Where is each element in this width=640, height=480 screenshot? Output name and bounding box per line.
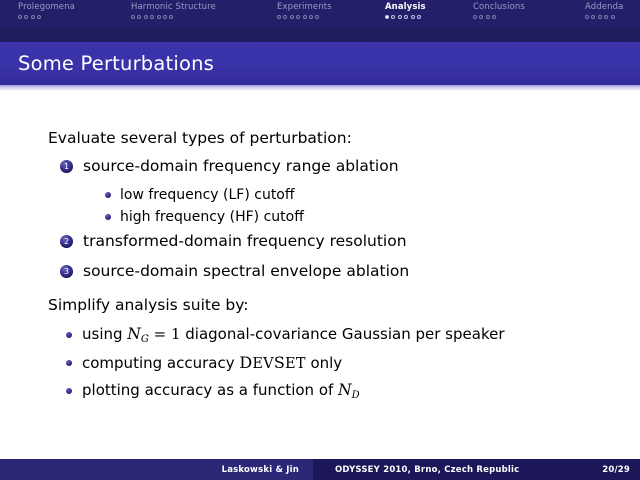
nav-dot[interactable] bbox=[144, 15, 148, 19]
bullet-item-2-label: computing accuracy DEVSET only bbox=[82, 353, 342, 374]
bullet-item-2: computing accuracy DEVSET only bbox=[66, 353, 342, 374]
bullet-1-post: diagonal-covariance Gaussian per speaker bbox=[181, 325, 505, 343]
nav-dot[interactable] bbox=[283, 15, 287, 19]
enumerated-item-3-label: source-domain spectral envelope ablation bbox=[83, 262, 409, 281]
nav-section-analysis[interactable]: Analysis bbox=[385, 2, 426, 19]
bullet-dot-icon bbox=[105, 192, 111, 198]
bullet-1-pre: using bbox=[82, 325, 127, 343]
nav-section-label: Prolegomena bbox=[18, 2, 75, 13]
bullet-item-3-label: plotting accuracy as a function of ND bbox=[82, 381, 360, 405]
nav-section-prolegomena[interactable]: Prolegomena bbox=[18, 2, 75, 19]
bullet-item-3: plotting accuracy as a function of ND bbox=[66, 381, 360, 405]
enumerated-item-2: 2 transformed-domain frequency resolutio… bbox=[60, 232, 407, 251]
bullet-item-1-label: using NG = 1 diagonal-covariance Gaussia… bbox=[82, 325, 505, 349]
enumerated-item-3: 3 source-domain spectral envelope ablati… bbox=[60, 262, 409, 281]
bullet-dot-icon bbox=[66, 388, 72, 394]
enumerated-item-1: 1 source-domain frequency range ablation bbox=[60, 157, 399, 176]
nav-dot[interactable] bbox=[303, 15, 307, 19]
section-navigation-bar: ProlegomenaHarmonic StructureExperiments… bbox=[0, 0, 640, 26]
slide-title: Some Perturbations bbox=[18, 52, 214, 75]
bullet-dot-icon bbox=[66, 360, 72, 366]
footer-conference: ODYSSEY 2010, Brno, Czech Republic bbox=[313, 459, 588, 480]
lead-text-perturbations: Evaluate several types of perturbation: bbox=[48, 129, 352, 148]
slide: ProlegomenaHarmonic StructureExperiments… bbox=[0, 0, 640, 480]
lead-text-simplify: Simplify analysis suite by: bbox=[48, 296, 249, 315]
nav-dot-current[interactable] bbox=[385, 15, 389, 19]
footer-authors: Laskowski & Jin bbox=[0, 459, 313, 480]
sub-item-2: high frequency (HF) cutoff bbox=[105, 208, 304, 226]
nav-dot[interactable] bbox=[411, 15, 415, 19]
smallcaps-devset: DEVSET bbox=[239, 356, 305, 372]
nav-dot[interactable] bbox=[486, 15, 490, 19]
nav-dot[interactable] bbox=[591, 15, 595, 19]
nav-section-label: Conclusions bbox=[473, 2, 525, 13]
nav-dot[interactable] bbox=[479, 15, 483, 19]
nav-section-dots bbox=[131, 15, 216, 19]
enumerated-item-1-label: source-domain frequency range ablation bbox=[83, 157, 399, 176]
nav-section-label: Experiments bbox=[277, 2, 332, 13]
nav-dot[interactable] bbox=[492, 15, 496, 19]
sub-item-1-label: low frequency (LF) cutoff bbox=[120, 186, 295, 204]
nav-dot[interactable] bbox=[604, 15, 608, 19]
nav-dot[interactable] bbox=[598, 15, 602, 19]
nav-dot[interactable] bbox=[169, 15, 173, 19]
slide-content: Evaluate several types of perturbation: … bbox=[0, 91, 640, 451]
nav-dot[interactable] bbox=[137, 15, 141, 19]
bullet-item-1: using NG = 1 diagonal-covariance Gaussia… bbox=[66, 325, 505, 349]
slide-footer: Laskowski & Jin ODYSSEY 2010, Brno, Czec… bbox=[0, 459, 640, 480]
nav-dot[interactable] bbox=[296, 15, 300, 19]
nav-dot[interactable] bbox=[157, 15, 161, 19]
nav-dot[interactable] bbox=[18, 15, 22, 19]
nav-dot[interactable] bbox=[398, 15, 402, 19]
nav-divider-strip bbox=[0, 26, 640, 42]
nav-section-label: Addenda bbox=[585, 2, 623, 13]
number-badge-icon: 3 bbox=[60, 265, 73, 278]
nav-section-dots bbox=[18, 15, 75, 19]
nav-section-dots bbox=[585, 15, 623, 19]
nav-dot[interactable] bbox=[290, 15, 294, 19]
nav-dot[interactable] bbox=[150, 15, 154, 19]
math-variable-ng: NG bbox=[127, 325, 149, 343]
nav-dot[interactable] bbox=[315, 15, 319, 19]
nav-dot[interactable] bbox=[391, 15, 395, 19]
number-badge-icon: 2 bbox=[60, 235, 73, 248]
nav-section-addenda[interactable]: Addenda bbox=[585, 2, 623, 19]
bullet-2-post: only bbox=[306, 354, 343, 372]
number-badge-icon: 1 bbox=[60, 160, 73, 173]
nav-dot[interactable] bbox=[404, 15, 408, 19]
nav-dot[interactable] bbox=[24, 15, 28, 19]
nav-dot[interactable] bbox=[309, 15, 313, 19]
bullet-3-pre: plotting accuracy as a function of bbox=[82, 381, 338, 399]
nav-section-dots bbox=[277, 15, 332, 19]
nav-dot[interactable] bbox=[31, 15, 35, 19]
slide-title-bar: Some Perturbations bbox=[0, 42, 640, 85]
nav-section-dots bbox=[385, 15, 426, 19]
math-variable-nd: ND bbox=[338, 381, 360, 399]
nav-dot[interactable] bbox=[37, 15, 41, 19]
math-equals-one: = 1 bbox=[149, 325, 181, 343]
nav-section-experiments[interactable]: Experiments bbox=[277, 2, 332, 19]
nav-dot[interactable] bbox=[277, 15, 281, 19]
nav-dot[interactable] bbox=[417, 15, 421, 19]
nav-dot[interactable] bbox=[473, 15, 477, 19]
nav-section-label: Harmonic Structure bbox=[131, 2, 216, 13]
nav-section-conclusions[interactable]: Conclusions bbox=[473, 2, 525, 19]
sub-item-2-label: high frequency (HF) cutoff bbox=[120, 208, 304, 226]
enumerated-item-2-label: transformed-domain frequency resolution bbox=[83, 232, 407, 251]
sub-item-1: low frequency (LF) cutoff bbox=[105, 186, 295, 204]
bullet-dot-icon bbox=[105, 214, 111, 220]
nav-section-dots bbox=[473, 15, 525, 19]
nav-dot[interactable] bbox=[611, 15, 615, 19]
nav-section-label: Analysis bbox=[385, 2, 426, 13]
footer-page-number: 20/29 bbox=[588, 459, 640, 480]
nav-section-harmonic-structure[interactable]: Harmonic Structure bbox=[131, 2, 216, 19]
nav-dot[interactable] bbox=[131, 15, 135, 19]
nav-dot[interactable] bbox=[585, 15, 589, 19]
nav-dot[interactable] bbox=[163, 15, 167, 19]
bullet-dot-icon bbox=[66, 332, 72, 338]
bullet-2-pre: computing accuracy bbox=[82, 354, 239, 372]
